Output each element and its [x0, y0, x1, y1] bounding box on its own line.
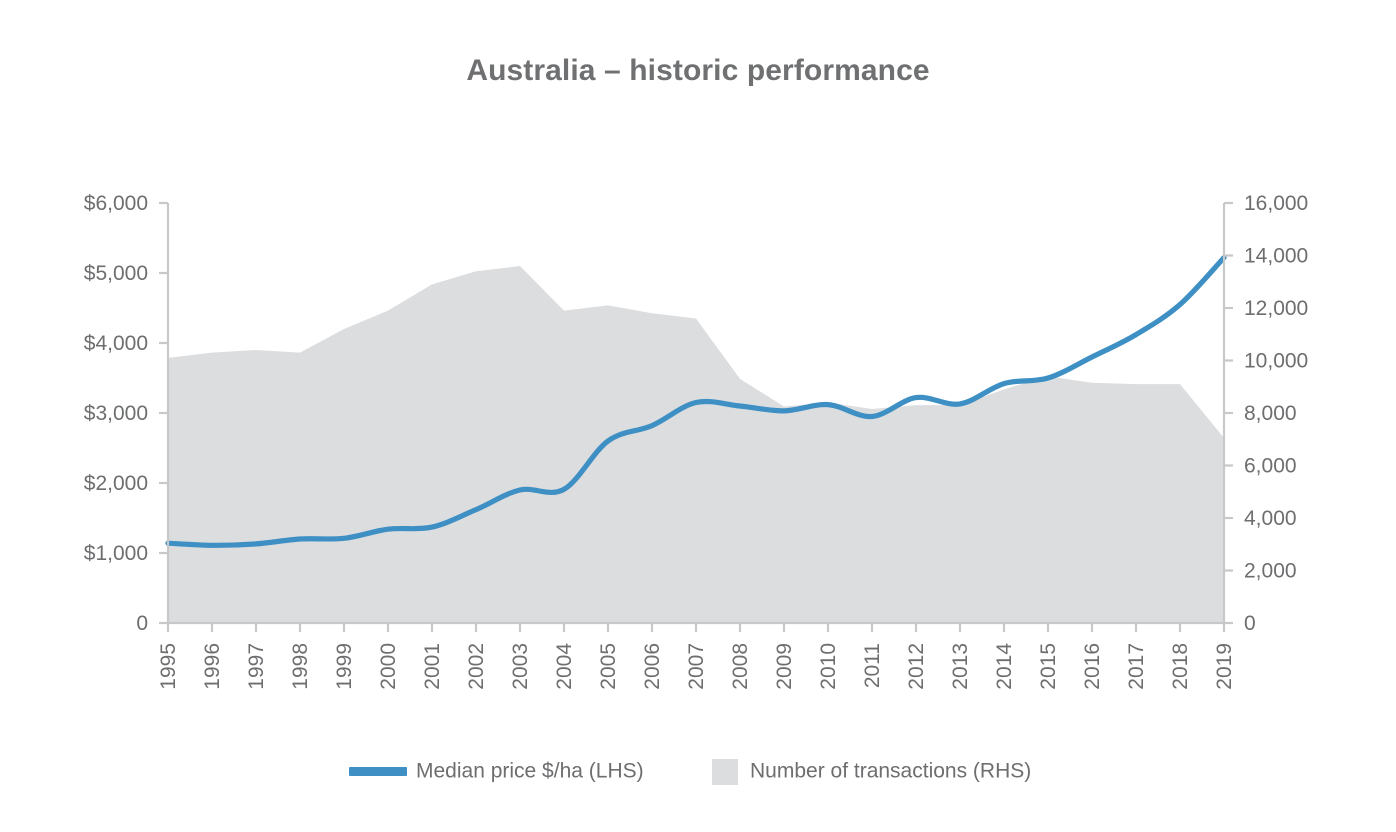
x-axis-tick-label: 1996 [201, 643, 224, 690]
left-axis-tick-label: $4,000 [84, 332, 148, 355]
x-axis-tick-label: 2010 [817, 643, 840, 690]
x-axis-tick-label: 2009 [773, 643, 796, 690]
x-axis-tick-label: 2011 [861, 643, 884, 688]
chart-plot-svg: 0$1,000$2,000$3,000$4,000$5,000$6,000 02… [0, 0, 1396, 832]
chart-legend: Median price $/ha (LHS)Number of transac… [349, 759, 1031, 785]
right-axis-tick-label: 8,000 [1244, 402, 1297, 425]
x-axis-tick-label: 2004 [553, 643, 576, 690]
right-axis-tick-label: 10,000 [1244, 350, 1308, 373]
right-axis-tick-label: 14,000 [1244, 245, 1308, 268]
x-axis-tick-label: 2012 [905, 643, 928, 690]
legend-swatch-line [349, 767, 407, 776]
chart-container: Australia – historic performance 0$1,000… [0, 0, 1396, 832]
x-axis-tick-label: 2015 [1037, 643, 1060, 690]
legend-label: Median price $/ha (LHS) [416, 760, 644, 783]
right-axis-tick-label: 2,000 [1244, 560, 1297, 583]
x-axis-tick-label: 1999 [333, 643, 356, 690]
x-axis-tick-label: 2014 [993, 643, 1016, 690]
x-axis-tick-label: 2016 [1081, 643, 1104, 690]
right-axis-tick-label: 4,000 [1244, 507, 1297, 530]
legend-label: Number of transactions (RHS) [750, 760, 1031, 783]
x-axis-tick-label: 1997 [245, 643, 268, 690]
left-axis-tick-label: $2,000 [84, 472, 148, 495]
transactions-area-series [168, 266, 1224, 623]
left-axis-tick-label: 0 [136, 612, 148, 635]
x-axis-tick-label: 2018 [1169, 643, 1192, 690]
right-axis-tick-labels: 02,0004,0006,0008,00010,00012,00014,0001… [1244, 192, 1308, 635]
x-axis-tick-label: 2002 [465, 643, 488, 690]
transactions-area-path [168, 266, 1224, 623]
x-axis-tick-label: 2008 [729, 643, 752, 690]
x-axis-tick-labels: 1995199619971998199920002001200220032004… [157, 643, 1236, 690]
right-axis-tick-label: 0 [1244, 612, 1256, 635]
x-axis-tick-label: 2017 [1125, 643, 1148, 690]
x-axis-tick-label: 2005 [597, 643, 620, 690]
left-axis-tick-label: $6,000 [84, 192, 148, 215]
left-axis-tick-labels: 0$1,000$2,000$3,000$4,000$5,000$6,000 [84, 192, 148, 635]
x-axis-tick-label: 2000 [377, 643, 400, 690]
left-axis-tick-label: $3,000 [84, 402, 148, 425]
x-axis-tick-label: 1995 [157, 643, 180, 690]
x-axis-tick-label: 2006 [641, 643, 664, 690]
x-axis-tick-label: 2003 [509, 643, 532, 690]
right-axis-tick-label: 12,000 [1244, 297, 1308, 320]
x-axis-tick-label: 1998 [289, 643, 312, 690]
right-axis-tick-label: 16,000 [1244, 192, 1308, 215]
right-axis-tick-label: 6,000 [1244, 455, 1297, 478]
x-axis-tick-label: 2007 [685, 643, 708, 690]
left-axis-tick-label: $1,000 [84, 542, 148, 565]
legend-swatch-square [712, 759, 738, 785]
x-axis-tick-label: 2001 [421, 643, 444, 690]
x-axis-tick-label: 2019 [1213, 643, 1236, 690]
x-axis-tick-label: 2013 [949, 643, 972, 690]
left-axis-tick-label: $5,000 [84, 262, 148, 285]
